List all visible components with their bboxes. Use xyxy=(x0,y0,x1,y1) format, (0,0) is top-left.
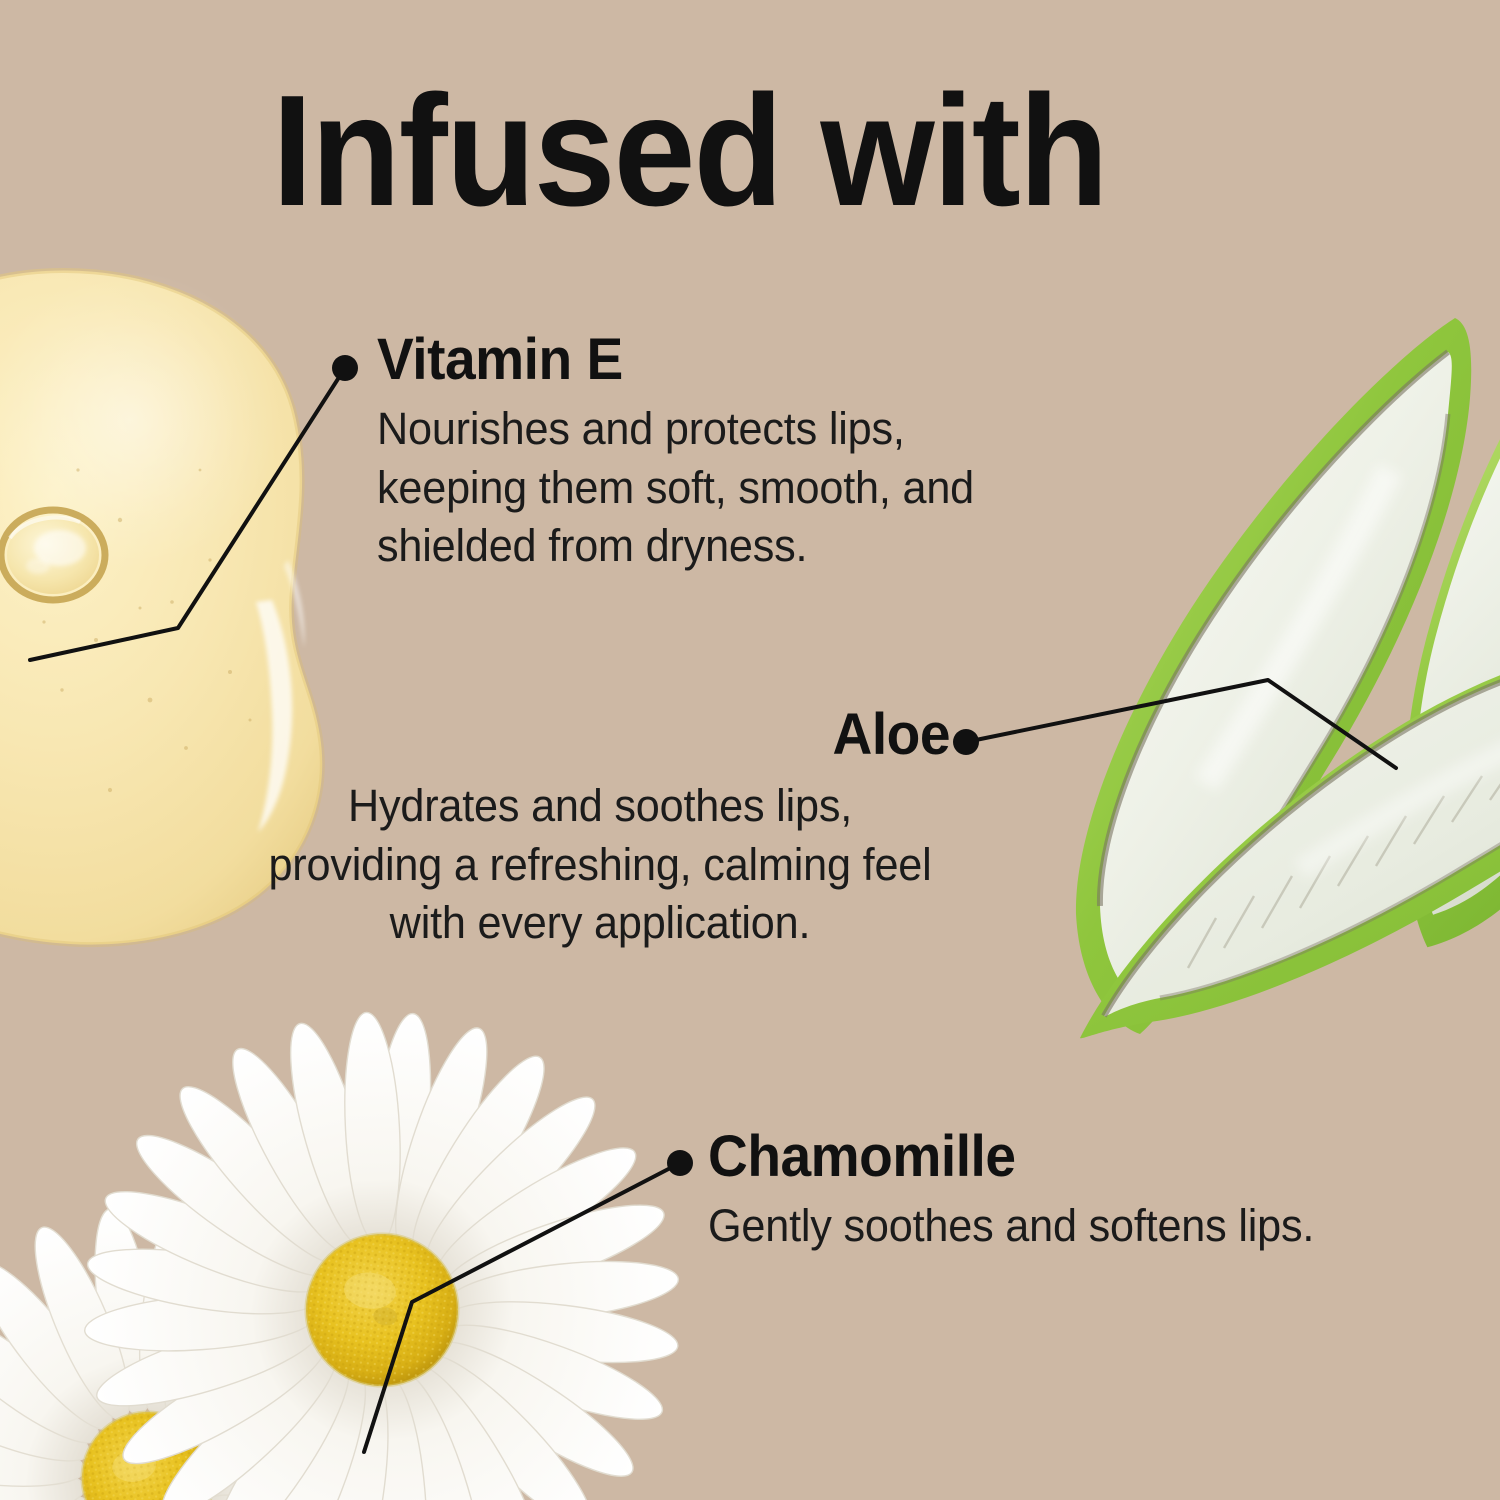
ingredient-name-chamomille: Chamomille xyxy=(708,1127,1354,1187)
ingredient-block-aloe: Aloe Hydrates and soothes lips, providin… xyxy=(250,705,950,953)
infographic-canvas: Infused with Vitamin E Nourishes and pro… xyxy=(0,0,1500,1500)
text-layer: Infused with Vitamin E Nourishes and pro… xyxy=(0,0,1500,1500)
ingredient-description-chamomille: Gently soothes and softens lips. xyxy=(708,1197,1361,1256)
ingredient-block-vitamin-e: Vitamin E Nourishes and protects lips, k… xyxy=(377,330,1017,576)
page-title: Infused with xyxy=(272,72,1107,230)
ingredient-block-chamomille: Chamomille Gently soothes and softens li… xyxy=(708,1127,1388,1256)
ingredient-name-vitamin-e: Vitamin E xyxy=(377,330,985,390)
ingredient-description-vitamin-e: Nourishes and protects lips, keeping the… xyxy=(377,400,991,576)
ingredient-description-aloe: Hydrates and soothes lips, providing a r… xyxy=(264,777,936,953)
ingredient-name-aloe: Aloe xyxy=(285,705,950,765)
